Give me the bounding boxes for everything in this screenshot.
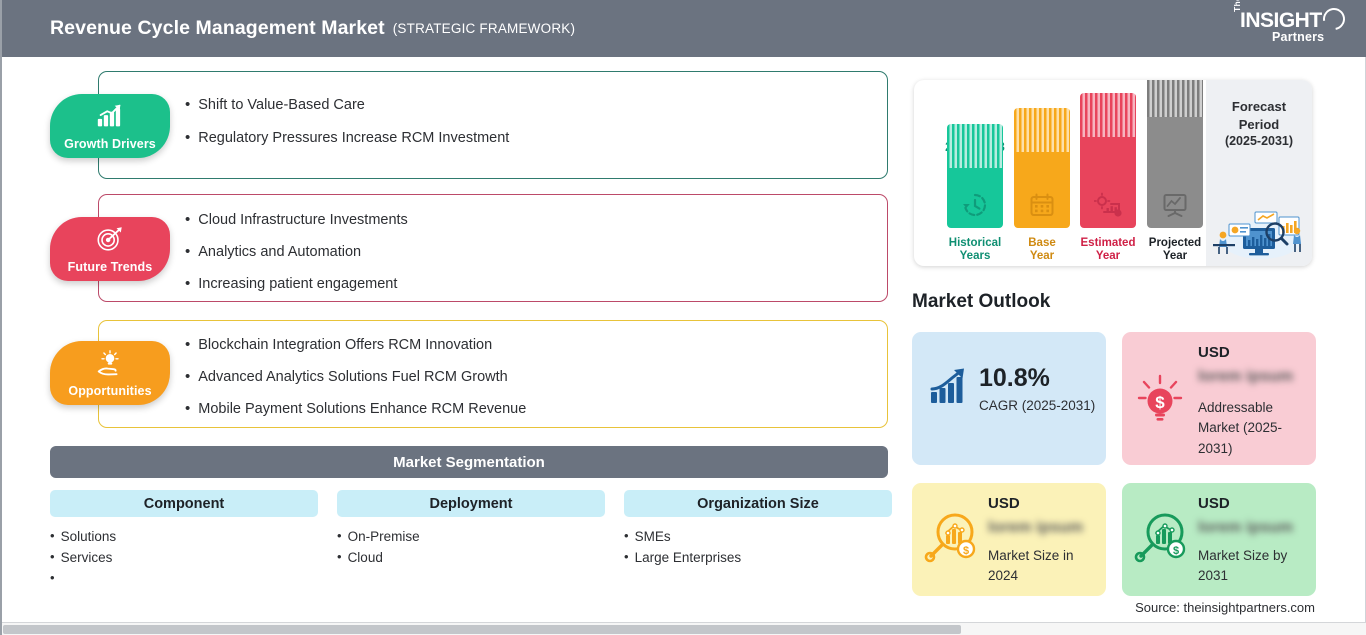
data-analysis-illustration [1209,200,1309,260]
bullet-dot-icon: • [185,275,190,292]
magnifier-chart-dollar-icon: $ [924,509,980,565]
currency-label: USD [988,495,1020,512]
segment-list: • SMEs • Large Enterprises [624,526,892,568]
list-item: • Mobile Payment Solutions Enhance RCM R… [185,400,873,419]
bullet-dot-icon: • [185,400,190,417]
list-item: • Blockchain Integration Offers RCM Inno… [185,336,873,355]
page-header: Revenue Cycle Management Market (STRATEG… [2,0,1366,57]
bar-projected-year [1147,80,1203,228]
list-item: • Cloud [337,547,605,568]
list-item: • On-Premise [337,526,605,547]
cagr-description: CAGR (2025-2031) [979,398,1095,413]
badge-label: Future Trends [68,260,153,274]
target-dart-icon [95,225,125,253]
list-item: • Large Enterprises [624,547,892,568]
bar-caption-projected: Projected Year [1140,237,1210,264]
market-segmentation-title: Market Segmentation [393,454,545,471]
badge-future-trends[interactable]: Future Trends [50,217,170,281]
badge-growth-drivers[interactable]: Growth Drivers [50,94,170,158]
list-item: • Increasing patient engagement [185,275,873,294]
bullet-dot-icon: • [337,526,342,547]
bullet-text: Shift to Value-Based Care [198,96,365,115]
bar-caption-base: Base Year [1007,237,1077,264]
page-subtitle: (STRATEGIC FRAMEWORK) [393,21,575,36]
segment-column-organization-size: Organization Size • SMEs • Large Enterpr… [624,490,892,568]
outlook-card-market-size-2024: $ USD lorem ipsum Market Size in 2024 [912,483,1106,596]
svg-text:$: $ [1173,545,1179,557]
bar-stripe [1147,80,1203,117]
projection-screen-icon [1161,192,1189,218]
segment-column-deployment: Deployment • On-Premise • Cloud [337,490,605,568]
source-attribution: Source: theinsightpartners.com [1135,600,1315,615]
forecast-period-chart: 2021-2023 Historical Years 2024 [914,80,1312,266]
bar-estimated-year [1080,93,1136,228]
segment-item-text: On-Premise [348,526,420,547]
list-item: • Advanced Analytics Solutions Fuel RCM … [185,368,873,387]
bullet-dot-icon: • [185,368,190,385]
cagr-value: 10.8% [979,366,1095,391]
scrollbar-thumb[interactable] [3,625,961,634]
list-item: • Regulatory Pressures Increase RCM Inve… [185,129,873,148]
outlook-card-addressable-market: $ USD lorem ipsum Addressable Market (20… [1122,332,1316,465]
blurred-value: lorem ipsum [1198,368,1293,386]
segment-list: • Solutions • Services • [50,526,318,588]
outlook-card-market-size-2031: $ USD lorem ipsum Market Size by 2031 [1122,483,1316,596]
segment-item-text: Large Enterprises [635,547,742,568]
bullet-dot-icon: • [624,526,629,547]
growth-drivers-card: • Shift to Value-Based Care • Regulatory… [98,71,888,179]
bullet-text: Analytics and Automation [198,243,361,262]
segment-header: Component [50,490,318,517]
bullet-dot-icon: • [185,96,190,113]
list-item: • Solutions [50,526,318,547]
currency-label: USD [1198,495,1230,512]
bullet-text: Cloud Infrastructure Investments [198,211,408,230]
cagr-text-block: 10.8% CAGR (2025-2031) [979,366,1095,413]
blurred-value: lorem ipsum [1198,519,1293,537]
segment-item-text: Solutions [61,526,117,547]
list-item: • SMEs [624,526,892,547]
calendar-icon [1028,192,1056,218]
forecast-annotation-text: Forecast Period (2025-2031) [1206,98,1312,150]
horizontal-scrollbar[interactable] [2,622,1366,635]
list-item: • Cloud Infrastructure Investments [185,211,873,230]
logo-partners-text: Partners [1272,30,1324,44]
card-description: Market Size by 2031 [1198,546,1306,587]
card-description: Addressable Market (2025-2031) [1198,398,1306,459]
infographic-page: Revenue Cycle Management Market (STRATEG… [0,0,1366,635]
history-clock-icon [961,192,989,218]
segment-list: • On-Premise • Cloud [337,526,605,568]
market-outlook-title: Market Outlook [912,291,1050,313]
market-segmentation-header: Market Segmentation [50,446,888,478]
svg-text:$: $ [1155,393,1165,412]
badge-opportunities[interactable]: Opportunities [50,341,170,405]
list-item: • Analytics and Automation [185,243,873,262]
bar-chart-growth-icon [95,102,125,130]
list-item: • Services [50,547,318,568]
bullet-dot-icon: • [50,568,55,588]
future-trends-bullets: • Cloud Infrastructure Investments • Ana… [185,211,873,294]
segment-item-text: Services [61,547,113,568]
segment-item-text: SMEs [635,526,671,547]
future-trends-card: • Cloud Infrastructure Investments • Ana… [98,194,888,302]
blurred-value: lorem ipsum [988,519,1083,537]
outlook-card-cagr: 10.8% CAGR (2025-2031) [912,332,1106,465]
badge-label: Growth Drivers [64,137,156,151]
forecast-period-annotation: Forecast Period (2025-2031) [1206,80,1312,266]
bullet-text: Blockchain Integration Offers RCM Innova… [198,336,492,355]
bullet-text: Increasing patient engagement [198,275,397,294]
insight-partners-logo: The INSIGHT Partners [1230,7,1350,51]
growth-drivers-bullets: • Shift to Value-Based Care • Regulatory… [185,96,873,148]
segment-header: Deployment [337,490,605,517]
segment-item-text: Cloud [348,547,383,568]
svg-text:$: $ [963,545,969,557]
bullet-text: Advanced Analytics Solutions Fuel RCM Gr… [198,368,507,387]
bullet-dot-icon: • [337,547,342,568]
bullet-dot-icon: • [50,547,55,568]
bar-caption-historical: Historical Years [940,237,1010,264]
currency-label: USD [1198,344,1230,361]
segment-header: Organization Size [624,490,892,517]
bar-chart-arrow-icon [928,366,970,408]
magnifier-chart-dollar-icon: $ [1134,509,1190,565]
bullet-dot-icon: • [50,526,55,547]
bullet-dot-icon: • [624,547,629,568]
opportunities-bullets: • Blockchain Integration Offers RCM Inno… [185,336,873,419]
segment-column-component: Component • Solutions • Services • [50,490,318,588]
list-item: • Shift to Value-Based Care [185,96,873,115]
list-item: • [50,568,318,588]
bullet-dot-icon: • [185,243,190,260]
bar-caption-estimated: Estimated Year [1073,237,1143,264]
bullet-dot-icon: • [185,129,190,146]
bullet-text: Mobile Payment Solutions Enhance RCM Rev… [198,400,526,419]
bar-base-year [1014,108,1070,228]
lightbulb-dollar-icon: $ [1136,374,1184,426]
cagr-content: 10.8% CAGR (2025-2031) [928,366,1095,413]
lightbulb-hand-icon [95,349,125,377]
card-description: Market Size in 2024 [988,546,1096,587]
bar-historical-years [947,124,1003,228]
badge-label: Opportunities [68,384,151,398]
bullet-text: Regulatory Pressures Increase RCM Invest… [198,129,509,148]
page-title: Revenue Cycle Management Market [50,17,385,40]
opportunities-card: • Blockchain Integration Offers RCM Inno… [98,320,888,428]
bullet-dot-icon: • [185,336,190,353]
bullet-dot-icon: • [185,211,190,228]
analytics-gear-icon [1094,192,1122,218]
